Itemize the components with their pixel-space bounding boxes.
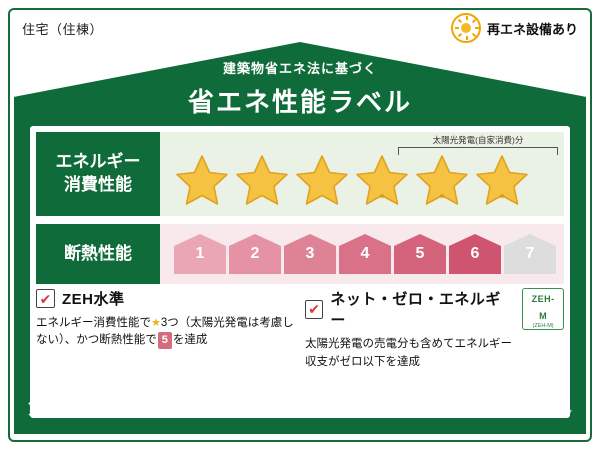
star-icon: ☀ [474, 153, 530, 207]
zeh-body-pre: エネルギー消費性能で [36, 317, 151, 329]
insulation-grade-2: 2 [229, 234, 281, 274]
bels-logo: BELS [128, 393, 188, 419]
zeh-m-badge-sub: (ZEH-M) [528, 324, 558, 330]
evaluation-date: 評価日 2025年5月27日 [450, 392, 572, 408]
energy-label-line2: 消費性能 [56, 174, 141, 197]
star-rating: ☀☀☀ [174, 153, 530, 207]
zeh-body-post: を達成 [173, 334, 208, 346]
insulation-grade-5: 5 [394, 234, 446, 274]
insulation-grade-list: 1234567 [174, 234, 556, 274]
evaluation-code: cc7a5f04-8c86-4687 [450, 408, 572, 419]
star-icon: ☀ [414, 153, 470, 207]
renewable-equipment-badge: 再エネ設備あり [451, 13, 578, 43]
net-zero-energy-checkbox[interactable]: ✔ [305, 300, 323, 319]
star-solar-mark: ☀ [438, 192, 445, 201]
net-zero-energy-body: 太陽光発電の売電分も含めてエネルギー 収支がゼロ以下を達成 [305, 336, 564, 371]
zeh-standard-body: エネルギー消費性能で★3つ（太陽光発電は考慮しない）、かつ断熱性能で5を達成 [36, 315, 295, 350]
energy-label-line1: エネルギー [56, 151, 141, 174]
star-icon: ☀ [354, 153, 410, 207]
zeh-standard-block: ✔ ZEH水準 エネルギー消費性能で★3つ（太陽光発電は考慮しない）、かつ断熱性… [36, 288, 295, 376]
zeh-m-badge: ZEH-M (ZEH-M) [522, 288, 564, 330]
zeh-m-badge-main: ZEH-M [532, 294, 555, 321]
net-zero-line2: 収支がゼロ以下を達成 [305, 354, 564, 371]
title-main: 省エネ性能ラベル [22, 82, 578, 119]
footer-left: 第三者評価 BELS 0283236-01 [28, 393, 266, 419]
zeh-body-grade: 5 [158, 332, 172, 349]
zeh-body-star-icon: ★ [151, 317, 161, 329]
energy-performance-stars-area: 太陽光発電(自家消費)分 ☀☀☀ [160, 132, 564, 216]
star-icon [294, 153, 350, 207]
solar-bracket-note: 太陽光発電(自家消費)分 [398, 134, 558, 146]
insulation-grade-1: 1 [174, 234, 226, 274]
insulation-grade-4: 4 [339, 234, 391, 274]
footer-bar: 第三者評価 BELS 0283236-01 評価日 2025年5月27日 cc7… [22, 384, 578, 428]
insulation-grades-area: 1234567 [160, 224, 564, 284]
renewable-equipment-text: 再エネ設備あり [487, 19, 578, 38]
star-solar-mark: ☀ [378, 192, 385, 201]
solar-bracket: 太陽光発電(自家消費)分 [398, 134, 558, 155]
housing-type-text: 住宅（住棟） [22, 19, 103, 38]
insulation-grade-6: 6 [449, 234, 501, 274]
star-icon [174, 153, 230, 207]
title-block: 建築物省エネ法に基づく 省エネ性能ラベル [22, 58, 578, 119]
star-solar-mark: ☀ [498, 192, 505, 201]
net-zero-line1: 太陽光発電の売電分も含めてエネルギー [305, 336, 564, 353]
header-row: 住宅（住棟） 再エネ設備あり [10, 10, 590, 46]
star-icon [234, 153, 290, 207]
bels-id: 0283236-01 [202, 400, 266, 412]
energy-performance-row: エネルギー 消費性能 太陽光発電(自家消費)分 ☀☀☀ [36, 132, 564, 216]
energy-performance-label: 住宅（住棟） 再エネ設備あり 建築物省エネ法に基づく 省エネ性能ラベル [0, 0, 600, 450]
title-subtitle: 建築物省エネ法に基づく [22, 58, 578, 77]
third-party-eval-text: 第三者評価 [28, 394, 118, 419]
zeh-standard-title: ZEH水準 [62, 288, 125, 309]
footer-right: 評価日 2025年5月27日 cc7a5f04-8c86-4687 [450, 392, 572, 420]
insulation-grade-7: 7 [504, 234, 556, 274]
insulation-performance-row: 断熱性能 1234567 [36, 224, 564, 284]
net-zero-energy-title: ネット・ゼロ・エネルギー [330, 288, 509, 330]
net-zero-energy-head: ✔ ネット・ゼロ・エネルギー ZEH-M (ZEH-M) [305, 288, 564, 330]
criteria-section: ✔ ZEH水準 エネルギー消費性能で★3つ（太陽光発電は考慮しない）、かつ断熱性… [36, 288, 564, 376]
sun-icon [451, 13, 481, 43]
zeh-standard-head: ✔ ZEH水準 [36, 288, 295, 309]
white-panel: エネルギー 消費性能 太陽光発電(自家消費)分 ☀☀☀ 断熱性能 1234567 [30, 126, 570, 418]
net-zero-energy-block: ✔ ネット・ゼロ・エネルギー ZEH-M (ZEH-M) 太陽光発電の売電分も含… [305, 288, 564, 376]
energy-performance-label-box: エネルギー 消費性能 [36, 132, 160, 216]
insulation-grade-3: 3 [284, 234, 336, 274]
zeh-standard-checkbox[interactable]: ✔ [36, 289, 55, 308]
insulation-performance-label-box: 断熱性能 [36, 224, 160, 284]
label-content: 建築物省エネ法に基づく 省エネ性能ラベル エネルギー 消費性能 太陽光発電(自家… [22, 48, 578, 428]
